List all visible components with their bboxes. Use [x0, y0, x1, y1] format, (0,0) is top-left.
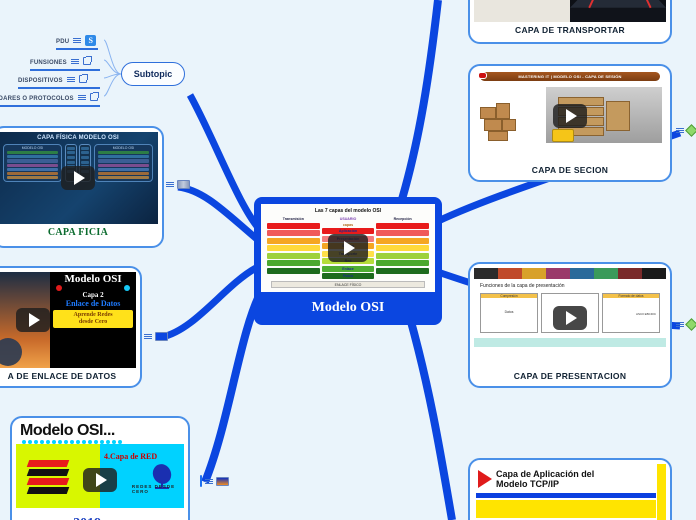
connector-capa-secion[interactable]: [676, 126, 696, 135]
forklift-icon: [552, 129, 574, 142]
thumbnail-banner: MASTERING IT | MODELO OSI - CAPA DE SESI…: [480, 72, 660, 81]
slide-wave: [474, 338, 666, 347]
thumbnail-title: Modelo OSI...: [16, 422, 184, 440]
thumbnail-sub3: 2019: [73, 516, 101, 520]
thumbnail-sub4: desde Cero: [53, 319, 133, 326]
leaf-item-dispositivos[interactable]: DISPOSITIVOS: [18, 72, 87, 86]
subtopic-label: Subtopic: [134, 69, 173, 79]
leaf-underline: [0, 105, 100, 107]
menu-icon[interactable]: [205, 478, 213, 485]
col-header: USUARIO: [322, 217, 375, 221]
leaf-item-pdu[interactable]: PDU S: [56, 33, 96, 47]
mindmap-canvas: PDU S FUNSIONES DISPOSITIVOS NDARES O PR…: [0, 0, 696, 520]
diamond-icon[interactable]: [685, 318, 696, 331]
card-capa-transportar[interactable]: CAPA DE TRANSPORTAR: [468, 0, 672, 44]
thumbnail-sub2: REDES DESDE CERO: [132, 484, 184, 494]
play-icon[interactable]: [61, 166, 95, 190]
chevron-stack-icon: [474, 0, 570, 22]
play-icon[interactable]: [16, 308, 50, 332]
play-icon[interactable]: [553, 104, 587, 128]
menu-icon[interactable]: [166, 181, 174, 188]
s-badge-icon[interactable]: S: [85, 35, 96, 46]
card-thumbnail[interactable]: MASTERING IT | MODELO OSI - CAPA DE SESI…: [474, 70, 666, 162]
leaf-label: NDARES O PROTOCOLOS: [0, 96, 74, 104]
thumbnail-icon[interactable]: [216, 477, 229, 486]
card-capa-red[interactable]: Modelo OSI... 4.Capa de RED: [10, 416, 190, 520]
play-icon[interactable]: [83, 468, 117, 492]
connector-capa-presentacion[interactable]: [676, 320, 696, 329]
thumbnail-title-line2: Modelo TCP/IP: [496, 479, 559, 489]
thumbnail-sub2: Enlace de Datos: [50, 299, 136, 308]
thumbnail-photo: [570, 0, 666, 22]
menu-icon[interactable]: [78, 94, 86, 101]
connector-capa-enlace[interactable]: [144, 332, 168, 341]
thumbnail-icon[interactable]: [155, 332, 168, 341]
layer-name: Físico: [322, 273, 375, 279]
thumbnail-topbar: [474, 268, 666, 279]
card-thumbnail[interactable]: Modelo OSI... 4.Capa de RED: [16, 422, 184, 520]
thumbnail-accent-bar: [657, 464, 666, 520]
card-thumbnail[interactable]: [474, 0, 666, 22]
leaf-label: FUNSIONES: [30, 60, 67, 68]
thumbnail-footer: ENLACE FÍSICO: [271, 281, 425, 288]
edge-marker: [200, 475, 202, 487]
menu-icon[interactable]: [676, 127, 684, 134]
osi-pane-left: MODELO OSI: [3, 144, 62, 182]
card-label: CAPA DE SECION: [474, 162, 666, 177]
col-label: Transmisión: [267, 217, 320, 221]
card-capa-enlace-datos[interactable]: Modelo OSI Capa 2 Enlace de Datos Aprend…: [0, 266, 142, 388]
layer-name: Enlace: [322, 266, 375, 272]
play-icon[interactable]: [328, 234, 368, 262]
card-label: CAPA FICIA: [0, 224, 158, 240]
play-icon[interactable]: [553, 306, 587, 330]
menu-icon[interactable]: [676, 321, 684, 328]
connector-capa-red[interactable]: [200, 475, 229, 487]
menu-icon[interactable]: [73, 37, 81, 44]
thumbnail-block: [476, 500, 656, 518]
col-label: Recepción: [376, 217, 429, 221]
connector-capa-fisica[interactable]: [166, 180, 190, 189]
leaf-label: DISPOSITIVOS: [18, 78, 63, 86]
leaf-underline: [56, 48, 98, 50]
card-thumbnail[interactable]: Capa de Aplicación del Modelo TCP/IP: [474, 464, 666, 520]
boxes-art: [478, 99, 544, 143]
thumbnail-sub3: Aprende Redes: [53, 312, 133, 319]
slide-box-1: Compresión Datos: [480, 293, 538, 333]
record-icon: [478, 72, 487, 79]
thumbnail-divider: [476, 493, 656, 498]
thumbnail-icon[interactable]: [177, 180, 190, 189]
leaf-label: PDU: [56, 39, 69, 47]
card-thumbnail[interactable]: Modelo OSI Capa 2 Enlace de Datos Aprend…: [0, 272, 136, 368]
central-node-modelo-osi[interactable]: Las 7 capas del modelo OSI Transmisión U…: [255, 198, 441, 324]
menu-icon[interactable]: [144, 333, 152, 340]
card-label: CAPA DE PRESENTACION: [474, 368, 666, 383]
slide-box-caption: Formato de datos: [603, 294, 659, 298]
thumbnail-title: Modelo OSI: [50, 272, 136, 285]
external-link-icon[interactable]: [90, 93, 98, 101]
osi-col-reception: Recepción: [376, 217, 429, 279]
thumbnail-art: Capa de Aplicación del Modelo TCP/IP: [474, 464, 666, 520]
card-capa-presentacion[interactable]: Funciones de la capa de presentación Com…: [468, 262, 672, 388]
thumbnail-sub1: Capa 2: [50, 291, 136, 299]
card-label: A DE ENLACE DE DATOS: [0, 368, 136, 383]
external-link-icon[interactable]: [83, 57, 91, 65]
play-triangle-icon: [478, 470, 492, 488]
menu-icon[interactable]: [67, 76, 75, 83]
card-thumbnail[interactable]: Funciones de la capa de presentación Com…: [474, 268, 666, 368]
subtopic-node[interactable]: Subtopic: [121, 62, 185, 86]
slide-box-3: Formato de datos ASCII EBCDIC: [602, 293, 660, 333]
col-subheader: capas: [322, 223, 375, 227]
card-capa-fisica[interactable]: CAPA FÍSICA MODELO OSI MODELO OSI: [0, 126, 164, 248]
layers-stack-icon: [28, 460, 68, 496]
pane-title: MODELO OSI: [96, 146, 151, 150]
card-capa-aplicacion-tcpip[interactable]: Capa de Aplicación del Modelo TCP/IP: [468, 458, 672, 520]
slide-note: ASCII EBCDIC: [603, 312, 659, 316]
thumbnail-title: Las 7 capas del modelo OSI: [261, 204, 435, 214]
external-link-icon[interactable]: [79, 75, 87, 83]
slide-box-caption: Compresión: [481, 294, 537, 298]
leaf-item-funsiones[interactable]: FUNSIONES: [30, 54, 91, 68]
menu-icon[interactable]: [71, 58, 79, 65]
leaf-item-estandares-protocolos[interactable]: NDARES O PROTOCOLOS: [0, 90, 98, 104]
diamond-icon[interactable]: [685, 124, 696, 137]
card-thumbnail[interactable]: CAPA FÍSICA MODELO OSI MODELO OSI: [0, 132, 158, 224]
slide-data-label: Datos: [481, 310, 537, 314]
central-node-title: Modelo OSI: [258, 295, 438, 321]
thumbnail-sub1: 4.Capa de RED: [100, 444, 184, 461]
thumbnail-art: [474, 0, 666, 22]
central-thumbnail[interactable]: Las 7 capas del modelo OSI Transmisión U…: [258, 201, 438, 295]
thumbnail-title: Funciones de la capa de presentación: [480, 283, 660, 290]
pane-title: MODELO OSI: [5, 146, 60, 150]
osi-col-transmission: Transmisión: [267, 217, 320, 279]
osi-pane-right: MODELO OSI: [94, 144, 153, 182]
banner-text: MASTERING IT | MODELO OSI - CAPA DE SESI…: [518, 74, 621, 79]
card-label: CAPA DE TRANSPORTAR: [474, 22, 666, 37]
thumbnail-title: CAPA FÍSICA MODELO OSI: [0, 132, 158, 141]
card-capa-secion[interactable]: MASTERING IT | MODELO OSI - CAPA DE SESI…: [468, 64, 672, 182]
thumbnail-title-line1: Capa de Aplicación del: [496, 469, 594, 479]
